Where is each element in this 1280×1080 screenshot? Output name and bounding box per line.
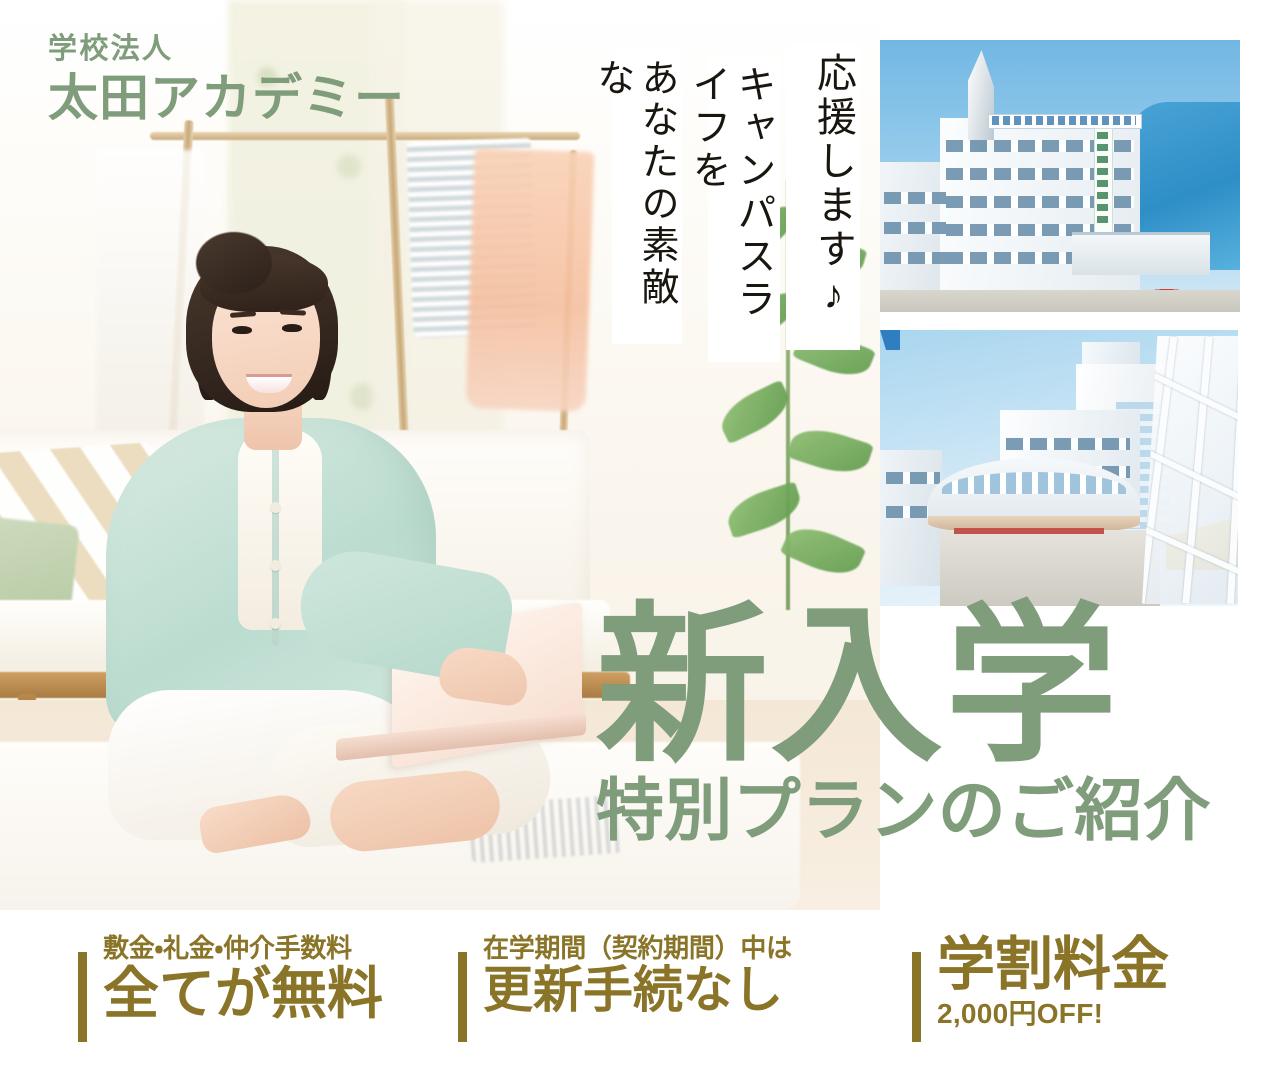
benefit-accent-bar (458, 952, 467, 1042)
eye (282, 324, 302, 332)
headline-primary: 新入学 (596, 604, 1211, 769)
benefit-accent-bar (912, 952, 921, 1042)
benefit-item-student-discount: 学割料金 2,000円OFF! (912, 934, 1169, 1042)
benefit-headline: 学割料金 (937, 934, 1169, 995)
plant-leaf (780, 518, 867, 584)
red-handrail (954, 528, 1104, 534)
pedestrian-skybridge (1142, 336, 1238, 604)
window-row (884, 222, 946, 234)
benefit-text-group: 学割料金 2,000円OFF! (937, 934, 1169, 1030)
vertical-sign-lettering (1097, 132, 1108, 228)
benefit-accent-bar (78, 952, 87, 1042)
hair-bun (196, 232, 272, 294)
logo-prefix: 学校法人 (48, 34, 405, 66)
plant-leaf (714, 380, 796, 445)
benefit-caption: 敷金・礼金・仲介手数料 (103, 934, 383, 962)
cardigan-placket (272, 436, 279, 646)
window-row (1006, 438, 1130, 450)
entrance-canopy (1072, 232, 1210, 275)
window-row (884, 192, 946, 204)
cardigan-button (270, 560, 281, 571)
school-logo: 学校法人 太田アカデミー (48, 34, 405, 126)
hanging-garment (96, 150, 204, 450)
benefit-headline: 全てが無料 (103, 964, 383, 1023)
logo-name: 太田アカデミー (48, 70, 405, 126)
benefit-caption: 2,000円OFF! (937, 999, 1169, 1029)
building-sign-lettering (992, 116, 1136, 125)
benefit-headline: 更新手続なし (483, 964, 792, 1017)
hanging-peach-garment (465, 148, 594, 412)
headline-secondary: 特別プランのご紹介 (596, 777, 1211, 845)
main-headline: 新入学 特別プランのご紹介 (596, 604, 1211, 845)
vertical-copy-line-1: あなたの素敵な (612, 50, 682, 344)
window-row (884, 252, 946, 264)
promo-banner: 学校法人 太田アカデミー あなたの素敵な キャンパスライフを 応援します♪ (0, 0, 1280, 1080)
plant-leaf (786, 421, 874, 482)
vertical-copy-line-3: 応援します♪ (786, 44, 860, 350)
campus-photo-exterior (880, 40, 1240, 312)
vertical-copy-line-2: キャンパスライフを (708, 56, 780, 362)
parking-ground (880, 290, 1240, 312)
benefit-text-group: 在学期間（契約期間）中は 更新手続なし (483, 934, 792, 1017)
benefit-item-no-renewal: 在学期間（契約期間）中は 更新手続なし (458, 934, 792, 1042)
eye (232, 326, 252, 334)
cardigan-button (270, 618, 281, 629)
benefit-caption: 在学期間（契約期間）中は (483, 934, 792, 962)
benefits-bar: 敷金・礼金・仲介手数料 全てが無料 在学期間（契約期間）中は 更新手続なし 学割… (0, 916, 1280, 1080)
benefit-text-group: 敷金・礼金・仲介手数料 全てが無料 (103, 934, 383, 1023)
window-row (886, 472, 940, 484)
benefit-item-free: 敷金・礼金・仲介手数料 全てが無料 (78, 934, 383, 1042)
campus-photo-lowangle (880, 330, 1238, 606)
cardigan-button (270, 502, 281, 513)
